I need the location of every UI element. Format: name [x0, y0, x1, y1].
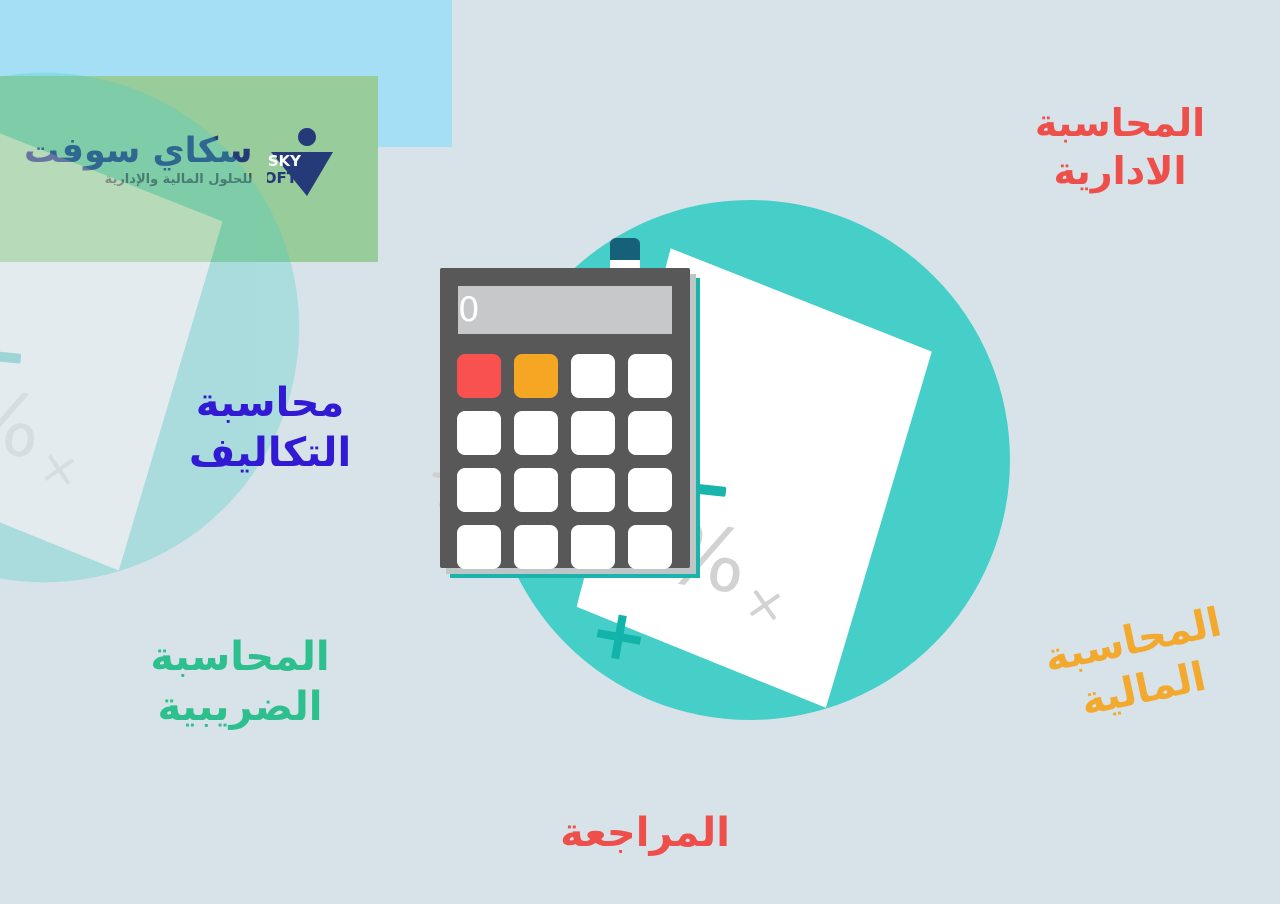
- brand-name: سكاي سوفت: [24, 134, 253, 169]
- plus-icon: +: [584, 595, 654, 674]
- calculator-key: [457, 468, 501, 512]
- times-icon: ×: [741, 577, 789, 631]
- calculator-key: [514, 468, 558, 512]
- calculator-key: [571, 525, 615, 569]
- ghost-times-icon: ×: [36, 442, 83, 495]
- calculator-body: 0: [440, 268, 690, 568]
- pencil-eraser: [610, 238, 640, 260]
- calculator-key: [628, 525, 672, 569]
- label-auditing: المراجعة: [520, 808, 770, 858]
- calculator-icon: 0: [440, 268, 690, 568]
- label-cost-accounting: محاسبة التكاليف: [160, 378, 380, 478]
- calculator-key: [514, 525, 558, 569]
- calculator-key: [628, 354, 672, 398]
- calculator-key-red: [457, 354, 501, 398]
- poster-canvas: SKY SOFT سكاي سوفت للحلول المالية والإدا…: [0, 0, 1280, 904]
- calculator-key: [457, 411, 501, 455]
- skysoft-mark-icon: SKY SOFT: [267, 128, 359, 196]
- calculator-key: [457, 525, 501, 569]
- ghost-percent-icon: %: [0, 375, 48, 472]
- main-illustration: $ % + × 0: [390, 160, 1050, 840]
- calculator-key: [571, 411, 615, 455]
- calculator-display-value: 0: [458, 293, 480, 327]
- calculator-key: [628, 411, 672, 455]
- calculator-key: [628, 468, 672, 512]
- calculator-key-orange: [514, 354, 558, 398]
- brand-tagline: للحلول المالية والإدارية: [24, 173, 253, 186]
- label-tax-accounting: المحاسبة الضريبية: [110, 632, 370, 732]
- brand-logo: SKY SOFT سكاي سوفت للحلول المالية والإدا…: [24, 128, 359, 196]
- calculator-key: [514, 411, 558, 455]
- ghost-minus-icon: [0, 350, 21, 363]
- calculator-screen: 0: [458, 286, 672, 334]
- svg-text:SOFT: SOFT: [267, 169, 298, 187]
- calculator-key: [571, 468, 615, 512]
- label-managerial-accounting: المحاسبة الادارية: [990, 100, 1250, 195]
- svg-text:SKY: SKY: [267, 152, 301, 170]
- calculator-keypad: [458, 354, 672, 569]
- calculator-key: [571, 354, 615, 398]
